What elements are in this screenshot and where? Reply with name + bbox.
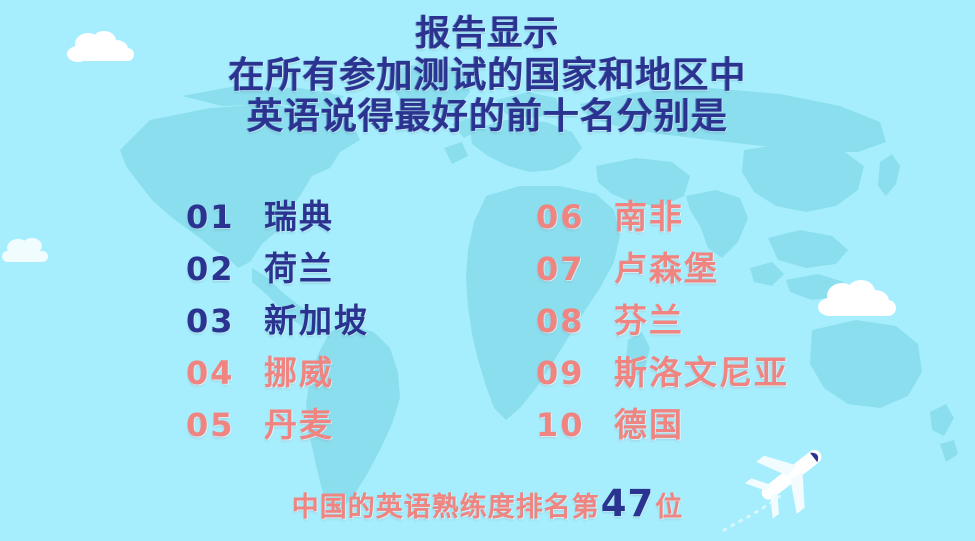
ranking-number: 04	[186, 354, 248, 392]
ranking-country-name: 德国	[614, 398, 684, 446]
ranking-country-name: 荷兰	[264, 242, 334, 290]
footer-prefix: 中国的英语熟练度排名第	[292, 492, 600, 523]
ranking-number: 05	[186, 406, 248, 444]
ranking-row: 05丹麦	[186, 398, 369, 450]
ranking-list: 01瑞典02荷兰03新加坡04挪威05丹麦 06南非07卢森堡08芬兰09斯洛文…	[0, 190, 975, 450]
ranking-row: 09斯洛文尼亚	[536, 346, 789, 398]
ranking-country-name: 南非	[614, 190, 684, 238]
ranking-number: 02	[186, 250, 248, 288]
footer-rank-number: 47	[601, 482, 655, 525]
ranking-number: 06	[536, 198, 598, 236]
ranking-number: 01	[186, 198, 248, 236]
title-line-3: 英语说得最好的前十名分别是	[0, 96, 975, 138]
title-line-1: 报告显示	[0, 14, 975, 55]
ranking-country-name: 斯洛文尼亚	[614, 346, 789, 394]
footer-suffix: 位	[655, 492, 683, 523]
ranking-row: 08芬兰	[536, 294, 789, 346]
ranking-row: 02荷兰	[186, 242, 369, 294]
ranking-country-name: 新加坡	[264, 294, 369, 342]
ranking-country-name: 丹麦	[264, 398, 334, 446]
ranking-number: 03	[186, 302, 248, 340]
ranking-country-name: 芬兰	[614, 294, 684, 342]
ranking-number: 07	[536, 250, 598, 288]
page-title: 报告显示 在所有参加测试的国家和地区中 英语说得最好的前十名分别是	[0, 14, 975, 138]
ranking-column-right: 06南非07卢森堡08芬兰09斯洛文尼亚10德国	[536, 190, 789, 450]
ranking-country-name: 挪威	[264, 346, 334, 394]
ranking-row: 10德国	[536, 398, 789, 450]
footer-note: 中国的英语熟练度排名第47位	[0, 482, 975, 525]
ranking-country-name: 瑞典	[264, 190, 334, 238]
ranking-row: 06南非	[536, 190, 789, 242]
ranking-row: 03新加坡	[186, 294, 369, 346]
ranking-country-name: 卢森堡	[614, 242, 719, 290]
infographic-poster: 报告显示 在所有参加测试的国家和地区中 英语说得最好的前十名分别是 01瑞典02…	[0, 0, 975, 541]
ranking-number: 10	[536, 406, 598, 444]
ranking-number: 09	[536, 354, 598, 392]
title-line-2: 在所有参加测试的国家和地区中	[0, 55, 975, 97]
ranking-row: 04挪威	[186, 346, 369, 398]
ranking-column-left: 01瑞典02荷兰03新加坡04挪威05丹麦	[186, 190, 369, 450]
ranking-number: 08	[536, 302, 598, 340]
ranking-row: 01瑞典	[186, 190, 369, 242]
ranking-row: 07卢森堡	[536, 242, 789, 294]
